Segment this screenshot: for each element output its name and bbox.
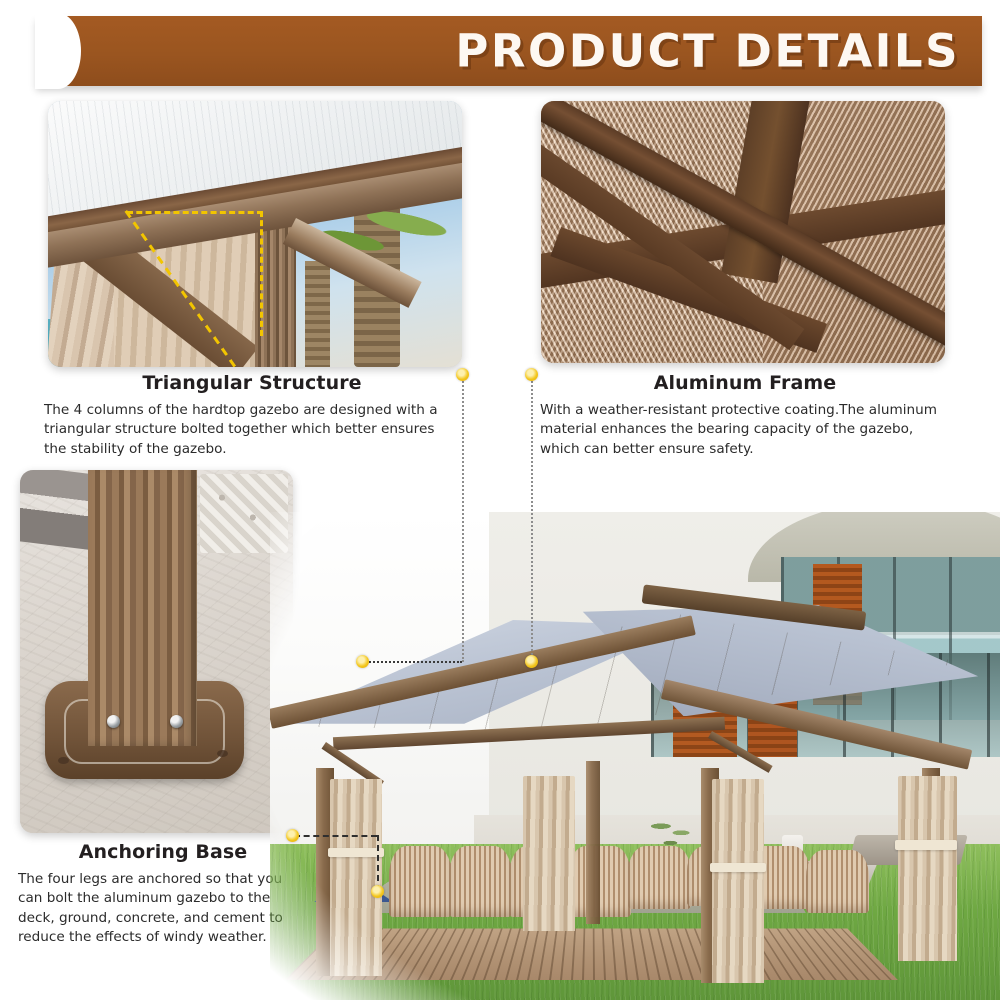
gazebo-curtain xyxy=(898,776,958,961)
feature-image-triangular-structure xyxy=(48,101,462,367)
curtain-tieback xyxy=(895,840,957,850)
callout-dot-triangular-bottom xyxy=(356,655,369,668)
photo-anchoring-base xyxy=(20,470,293,833)
caption-body: The four legs are anchored so that you c… xyxy=(18,870,308,947)
page-title: PRODUCT DETAILS xyxy=(455,25,960,78)
connector-line-anchoring-horizontal xyxy=(294,835,377,837)
hero-image-gazebo-scene xyxy=(270,512,1000,1000)
caption-aluminum-frame: Aluminum Frame With a weather-resistant … xyxy=(540,372,950,459)
curtain-tieback xyxy=(328,848,384,858)
gazebo-curtain xyxy=(330,779,383,976)
callout-dot-triangular-top xyxy=(456,368,469,381)
triangle-highlight-dashed xyxy=(127,211,264,336)
callout-dot-anchoring-bottom xyxy=(371,885,384,898)
feature-image-anchoring-base xyxy=(20,470,293,833)
callout-dot-aluminum-bottom xyxy=(525,655,538,668)
caption-title: Aluminum Frame xyxy=(540,372,950,394)
gazebo-post xyxy=(88,470,197,746)
callout-dot-anchoring-left xyxy=(286,829,299,842)
dining-chair xyxy=(806,850,869,913)
photo-aluminum-frame xyxy=(541,101,945,363)
caption-body: With a weather-resistant protective coat… xyxy=(540,401,950,459)
connector-line-triangular-lower xyxy=(362,661,462,663)
callout-dot-aluminum-top xyxy=(525,368,538,381)
dining-chair xyxy=(568,846,631,916)
photo-triangular-structure xyxy=(48,101,462,367)
palm-trunk-secondary xyxy=(305,261,330,367)
banner-notch-shape xyxy=(35,13,81,89)
caption-triangular-structure: Triangular Structure The 4 columns of th… xyxy=(44,372,460,459)
anchor-hole-right xyxy=(217,750,228,757)
dining-chair xyxy=(449,846,512,916)
caption-anchoring-base: Anchoring Base The four legs are anchore… xyxy=(18,841,308,947)
caption-title: Triangular Structure xyxy=(44,372,460,394)
feature-image-aluminum-frame xyxy=(541,101,945,363)
connector-line-triangular xyxy=(462,374,464,662)
anchor-bolt-right xyxy=(170,715,183,728)
dining-chair xyxy=(628,846,691,909)
connector-line-aluminum xyxy=(531,374,533,662)
gazebo-curtain xyxy=(712,779,765,983)
gazebo-corner-brace-right xyxy=(708,731,773,773)
gazebo-post-back-left xyxy=(586,761,600,924)
connector-line-anchoring-vertical xyxy=(377,835,379,891)
product-details-page: PRODUCT DETAILS xyxy=(0,0,1000,1000)
caption-title: Anchoring Base xyxy=(18,841,308,863)
dining-chair xyxy=(389,846,452,916)
curtain-tieback xyxy=(710,863,766,873)
header-banner: PRODUCT DETAILS xyxy=(36,16,982,86)
gazebo-curtain xyxy=(523,776,576,932)
caption-body: The 4 columns of the hardtop gazebo are … xyxy=(44,401,460,459)
